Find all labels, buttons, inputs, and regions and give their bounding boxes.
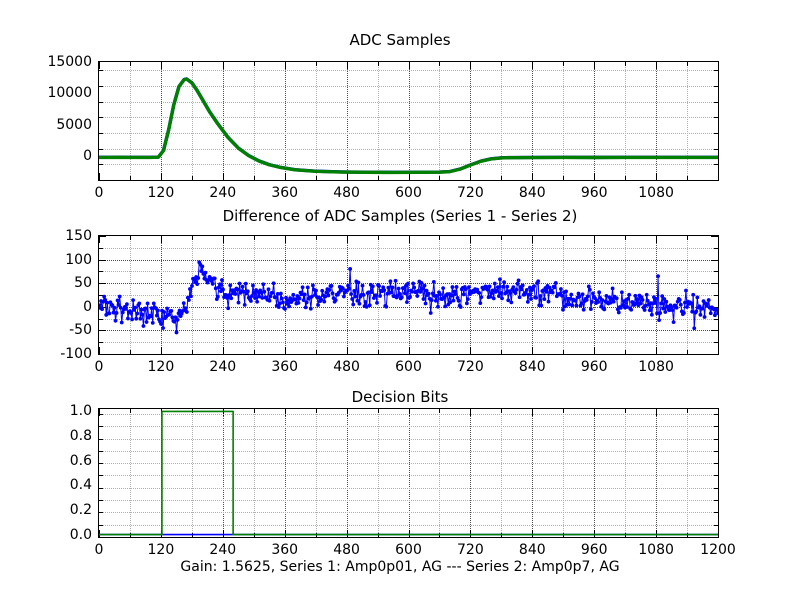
y-tick-label: 0.6	[70, 453, 92, 469]
x-tick-label: 960	[581, 542, 608, 558]
x-tick-label: 1080	[638, 542, 674, 558]
x-tick-label: 240	[209, 542, 236, 558]
y-tick-label: 1.0	[70, 403, 92, 419]
x-tick-label: 0	[95, 542, 104, 558]
x-tick-top	[718, 409, 719, 416]
y-tick-right	[714, 537, 718, 538]
x-tick-label: 480	[333, 542, 360, 558]
x-tick-label: 600	[395, 542, 422, 558]
plot-data-decision-bits	[99, 409, 718, 537]
x-tick-label: 840	[519, 542, 546, 558]
y-tick-label: 0.4	[70, 477, 92, 493]
axes-decision-bits	[98, 408, 719, 538]
x-tick-label: 1200	[700, 542, 736, 558]
y-tick-label: 0.0	[70, 527, 92, 543]
x-tick-label: 360	[271, 542, 298, 558]
matplotlib-figure: ADC Samples01202403604806007208409601080…	[0, 0, 800, 600]
x-tick-label: 120	[148, 542, 175, 558]
y-tick-label: 0.2	[70, 502, 92, 518]
x-tick-label: 720	[457, 542, 484, 558]
data-line	[99, 411, 718, 534]
x-tick	[718, 530, 719, 537]
figure-caption: Gain: 1.5625, Series 1: Amp0p01, AG --- …	[0, 559, 800, 575]
plot-title-decision-bits: Decision Bits	[0, 388, 800, 406]
y-tick	[99, 537, 103, 538]
y-tick-label: 0.8	[70, 428, 92, 444]
plot-panel-decision-bits: Decision Bits012024036048060072084096010…	[0, 0, 800, 600]
